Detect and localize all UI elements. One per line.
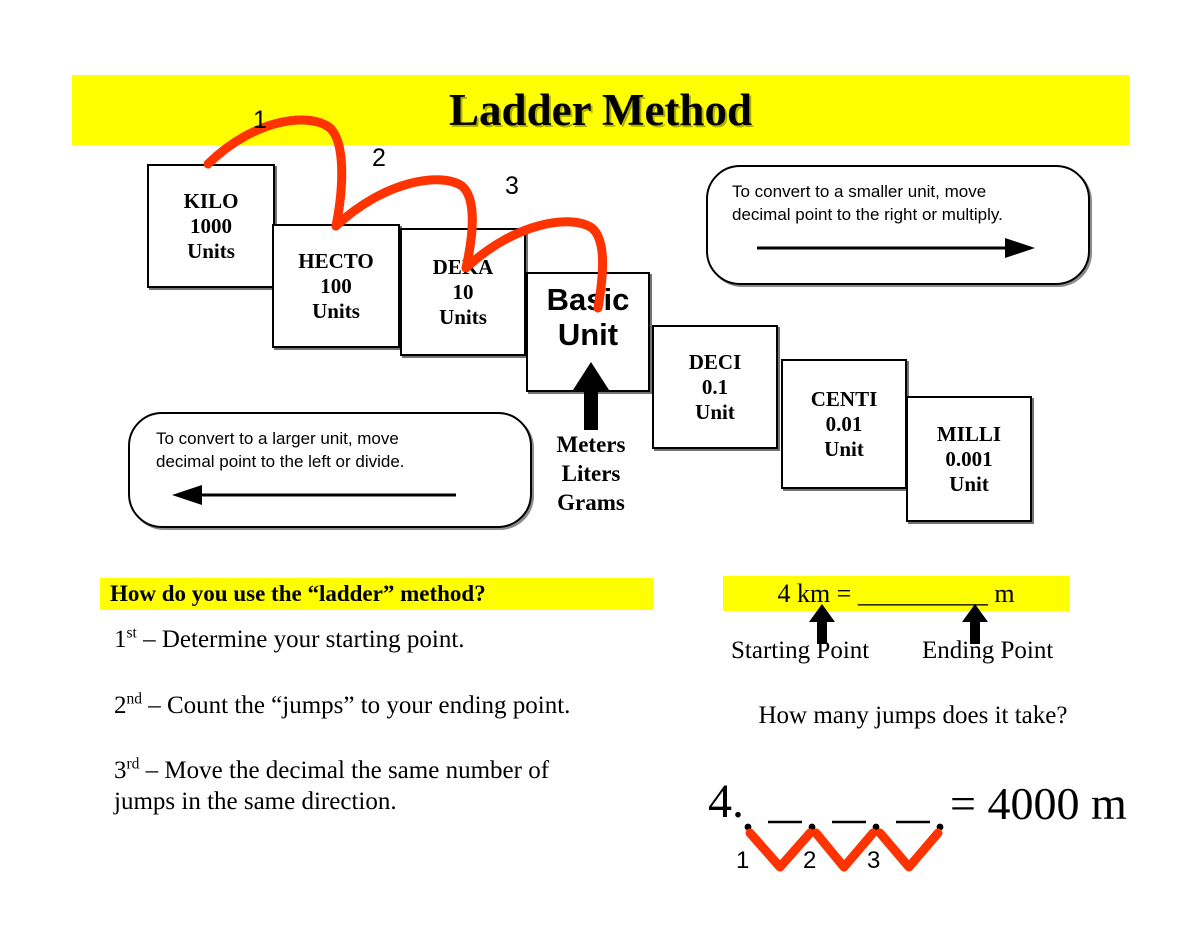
arrow-left-icon bbox=[172, 483, 456, 507]
ladder-step-value: 0.001 bbox=[945, 447, 992, 472]
ladder-step-name: HECTO bbox=[298, 249, 373, 274]
ladder-step-value: 100 bbox=[320, 274, 352, 299]
starting-point-label: Starting Point bbox=[731, 636, 869, 666]
basic-unit-arrow bbox=[560, 360, 622, 432]
ladder-step-name: Basic bbox=[547, 282, 630, 317]
final-equation-result: = 4000 m bbox=[950, 777, 1127, 831]
jump-number-1: 1 bbox=[253, 106, 267, 135]
howto-step-2: 2nd – Count the “jumps” to your ending p… bbox=[114, 690, 570, 721]
howto-step-1: 1st – Determine your starting point. bbox=[114, 624, 465, 655]
ladder-step-unit: Unit bbox=[695, 400, 735, 425]
ladder-step-unit: Units bbox=[187, 239, 235, 264]
step-text: – Count the “jumps” to your ending point… bbox=[142, 692, 570, 719]
howto-step-3-cont: jumps in the same direction. bbox=[114, 786, 397, 817]
callout-smaller-unit-text: To convert to a smaller unit, move decim… bbox=[732, 180, 1076, 226]
howto-step-3: 3rd – Move the decimal the same number o… bbox=[114, 755, 549, 786]
callout-line: To convert to a larger unit, move bbox=[156, 427, 516, 450]
ladder-step-name: MILLI bbox=[937, 422, 1001, 447]
ladder-step-name: DECI bbox=[689, 350, 742, 375]
final-jump-number-2: 2 bbox=[803, 847, 816, 875]
ladder-step-value: 0.1 bbox=[702, 375, 728, 400]
ladder-step-deka: DEKA 10 Units bbox=[400, 228, 526, 356]
callout-larger-unit-text: To convert to a larger unit, move decima… bbox=[156, 427, 516, 473]
arrow-right-icon bbox=[757, 236, 1035, 260]
final-equation-lead: 4. bbox=[708, 775, 744, 829]
callout-line: To convert to a smaller unit, move bbox=[732, 180, 1076, 203]
ladder-step-value: 0.01 bbox=[826, 412, 863, 437]
basic-unit-example-list: Meters Liters Grams bbox=[528, 430, 654, 517]
jump-number-2: 2 bbox=[372, 144, 386, 173]
final-jump-number-3: 3 bbox=[867, 847, 880, 875]
ladder-step-unit: Units bbox=[312, 299, 360, 324]
step-ordinal-suffix: rd bbox=[127, 756, 140, 773]
step-text: – Move the decimal the same number of bbox=[139, 757, 549, 784]
ladder-step-name: CENTI bbox=[811, 387, 878, 412]
ladder-step-value: 10 bbox=[453, 280, 474, 305]
ladder-step-unit: Unit bbox=[824, 437, 864, 462]
ladder-step-name: KILO bbox=[184, 189, 239, 214]
final-jump-arc-3 bbox=[880, 833, 938, 867]
ladder-step-value: 1000 bbox=[190, 214, 232, 239]
ladder-step-milli: MILLI 0.001 Unit bbox=[906, 396, 1032, 522]
step-ordinal-suffix: st bbox=[127, 625, 137, 642]
basic-unit-example: Grams bbox=[528, 488, 654, 517]
final-equation-group: 4. 1 2 3 = 4000 m bbox=[700, 775, 1140, 885]
howto-heading: How do you use the “ladder” method? bbox=[110, 580, 486, 608]
ladder-step-name: DEKA bbox=[433, 255, 494, 280]
slide-canvas: Ladder Method KILO 1000 Units HECTO 100 … bbox=[0, 0, 1200, 927]
ending-point-label: Ending Point bbox=[922, 636, 1053, 666]
jumps-question: How many jumps does it take? bbox=[723, 700, 1103, 731]
final-jump-number-1: 1 bbox=[736, 847, 749, 875]
page-title: Ladder Method bbox=[72, 84, 1129, 136]
ladder-step-unit: Unit bbox=[949, 472, 989, 497]
step-ordinal: 3 bbox=[114, 757, 127, 784]
final-jump-arc-1 bbox=[750, 833, 810, 867]
ladder-step-hecto: HECTO 100 Units bbox=[272, 224, 400, 348]
ladder-step-deci: DECI 0.1 Unit bbox=[652, 325, 778, 449]
ladder-step-value: Unit bbox=[558, 317, 618, 352]
ladder-step-kilo: KILO 1000 Units bbox=[147, 164, 275, 288]
ladder-step-unit: Units bbox=[439, 305, 487, 330]
example-equation: 4 km = __________ m bbox=[723, 578, 1069, 610]
step-ordinal: 1 bbox=[114, 626, 127, 653]
basic-unit-example: Liters bbox=[528, 459, 654, 488]
callout-line: decimal point to the left or divide. bbox=[156, 450, 516, 473]
step-ordinal-suffix: nd bbox=[127, 691, 143, 708]
step-ordinal: 2 bbox=[114, 692, 127, 719]
decimal-blanks-and-jumps bbox=[740, 775, 960, 880]
basic-unit-example: Meters bbox=[528, 430, 654, 459]
callout-line: decimal point to the right or multiply. bbox=[732, 203, 1076, 226]
final-jump-arc-2 bbox=[816, 833, 873, 867]
ladder-step-centi: CENTI 0.01 Unit bbox=[781, 359, 907, 489]
step-text: – Determine your starting point. bbox=[137, 626, 465, 653]
jump-number-3: 3 bbox=[505, 172, 519, 201]
